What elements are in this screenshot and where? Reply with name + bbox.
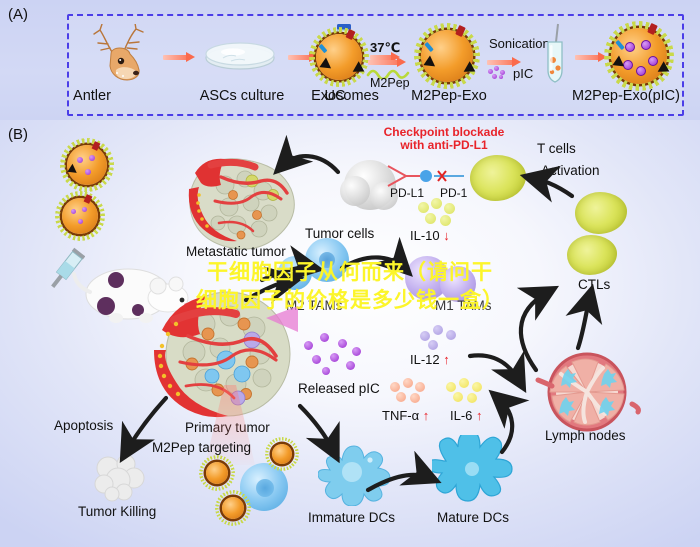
watermark-line-1: 干细胞因子从何而来（请问干 <box>0 258 700 286</box>
sonicator-tube-icon <box>540 22 570 88</box>
free-exosome-icon-2 <box>62 198 98 234</box>
panel-a-label-exosomes: Exosomes <box>297 88 393 104</box>
centrifuge-tube-icon <box>237 22 263 84</box>
m2pep-exosome-icon <box>421 30 473 82</box>
lymph-nodes-icon <box>532 352 642 432</box>
figure-canvas: (A) Antler <box>0 0 700 547</box>
antler-deer-icon <box>86 24 156 86</box>
checkpoint-note-line1: Checkpoint blockade <box>384 125 505 139</box>
free-exosome-icon-1 <box>67 145 107 185</box>
panel-b-label-activation: Activation <box>541 163 600 178</box>
panel-a-label-antler: Antler <box>56 88 128 104</box>
m2pep-exo-pic-icon <box>611 28 667 84</box>
apoptotic-cell-icon <box>88 450 150 502</box>
metastatic-tumor-icon <box>185 155 303 251</box>
panel-a-label-temperature: 37℃ <box>370 40 400 56</box>
immature-dc-icon <box>318 440 392 506</box>
panel-a-label-pic: pIC <box>513 66 533 81</box>
panel-b-label-apoptosis: Apoptosis <box>54 418 113 433</box>
pic-cluster-icon <box>488 66 510 80</box>
panel-a-label-ascs-culture: ASCs culture <box>182 88 302 104</box>
cytokine-il-12-label: IL-12 <box>410 352 440 367</box>
cytokine-tnf-alpha: TNF-α ↑ <box>382 408 429 423</box>
panel-b-label-m2pep-targeting: M2Pep targeting <box>152 440 251 455</box>
cytokine-il-10: IL-10 ↓ <box>410 228 450 243</box>
panel-b-label-immature-dcs: Immature DCs <box>308 510 395 525</box>
cytokine-il-12: IL-12 ↑ <box>410 352 450 367</box>
binding-exosome-icon-3 <box>272 444 292 464</box>
cytokine-il-10-direction: ↓ <box>443 228 450 243</box>
panel-b-label-released-pic: Released pIC <box>298 381 380 396</box>
checkpoint-blockade-note: Checkpoint blockade with anti-PD-L1 <box>374 126 514 152</box>
cytokine-il-12-direction: ↑ <box>443 352 450 367</box>
ctl-icon-1 <box>575 192 627 234</box>
binding-exosome-icon-1 <box>206 462 228 484</box>
panel-a-letter: (A) <box>8 6 28 23</box>
il-12-dots-icon <box>420 325 460 351</box>
binding-exosome-icon-2 <box>222 497 244 519</box>
watermark-overlay: 干细胞因子从何而来（请问干 细胞因子的价格是多少钱一盒） <box>0 258 700 314</box>
cytokine-il-6: IL-6 ↑ <box>450 408 483 423</box>
cytokine-il-6-label: IL-6 <box>450 408 472 423</box>
mature-dc-icon <box>432 435 514 507</box>
t-cell-icon-main <box>470 155 526 201</box>
arrow-sonication-to-product <box>575 52 607 61</box>
il-6-dots-icon <box>446 378 488 406</box>
released-pic-dots-icon <box>302 333 368 379</box>
panel-b-label-tumor-killing: Tumor Killing <box>78 504 156 519</box>
checkpoint-note-line2: with anti-PD-L1 <box>400 138 487 152</box>
arrow-exosomes-to-m2pep-exo <box>368 57 406 66</box>
panel-b-label-metastatic-tumor: Metastatic tumor <box>186 244 286 259</box>
panel-a-label-m2pep-exo-pic: M2Pep-Exo(pIC) <box>556 88 696 104</box>
panel-b-letter: (B) <box>8 126 28 143</box>
cytokine-il-6-direction: ↑ <box>476 408 483 423</box>
cytokine-tnf-alpha-direction: ↑ <box>423 408 430 423</box>
cytokine-il-10-label: IL-10 <box>410 228 440 243</box>
panel-a-label-m2pep-exo: M2Pep-Exo <box>401 88 497 104</box>
panel-b-label-lymph-nodes: Lymph nodes <box>545 428 626 443</box>
arrow-antler-to-culture <box>163 52 195 61</box>
il-10-dots-icon <box>418 198 460 228</box>
panel-b-label-mature-dcs: Mature DCs <box>437 510 509 525</box>
exosome-icon <box>316 34 362 80</box>
panel-b-label-t-cells: T cells <box>537 141 576 156</box>
panel-a: (A) Antler <box>0 0 700 120</box>
cytokine-tnf-alpha-label: TNF-α <box>382 408 419 423</box>
watermark-line-2: 细胞因子的价格是多少钱一盒） <box>0 286 700 314</box>
arrow-m2pep-exo-to-sonication <box>487 57 521 66</box>
tnf-alpha-dots-icon <box>390 378 430 406</box>
